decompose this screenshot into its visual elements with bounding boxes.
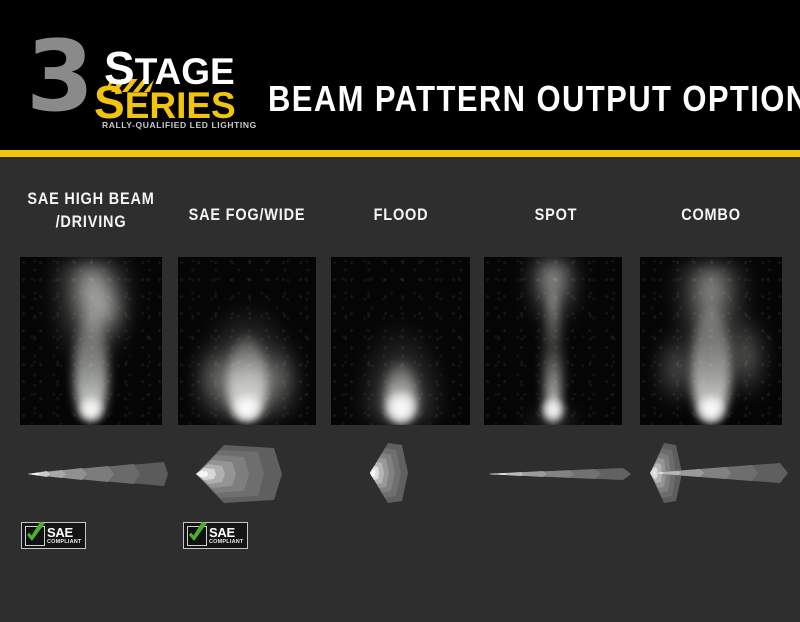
sae-compliant-badge-1: SAE COMPLIANT: [21, 522, 86, 549]
beam-diagram-spot: [475, 447, 635, 501]
column-label-line2: /DRIVING: [16, 211, 166, 234]
column-label-line1: SAE FOG/WIDE: [172, 204, 322, 227]
column-combo: COMBO: [636, 157, 786, 622]
column-label-combo: COMBO: [636, 204, 786, 227]
sae-badge-main-text: SAE: [47, 526, 82, 539]
beam-diagram-flood: [356, 440, 448, 506]
column-label-spot: SPOT: [481, 204, 631, 227]
column-label-sae-high-beam-driving: SAE HIGH BEAM /DRIVING: [16, 188, 166, 234]
column-flood: FLOOD: [326, 157, 476, 622]
green-checkmark-icon: [25, 526, 45, 546]
beam-photo-sae-high-beam-driving: [20, 257, 162, 425]
column-label-line1: COMBO: [636, 204, 786, 227]
column-label-sae-fog-wide: SAE FOG/WIDE: [172, 204, 322, 227]
page-title: BEAM PATTERN OUTPUT OPTIONS: [268, 78, 800, 120]
beam-photo-combo: [640, 257, 782, 425]
beam-diagram-sae-high-beam-driving: [16, 444, 168, 504]
beam-columns-container: SAE HIGH BEAM /DRIVING: [0, 157, 800, 622]
sae-badge-main-text: SAE: [209, 526, 244, 539]
yellow-divider-rule: [0, 150, 800, 157]
sae-badge-sub-text: COMPLIANT: [209, 540, 244, 546]
sae-compliant-badge-2: SAE COMPLIANT: [183, 522, 248, 549]
column-label-flood: FLOOD: [326, 204, 476, 227]
logo-word-series: SERIES: [94, 84, 236, 124]
sae-badge-sub-text: COMPLIANT: [47, 540, 82, 546]
header-bar: 3 STAGE SERIES RALLY-QUALIFIED LED LIGHT…: [0, 0, 800, 150]
column-label-line1: SAE HIGH BEAM: [16, 188, 166, 211]
column-sae-high-beam-driving: SAE HIGH BEAM /DRIVING: [16, 157, 166, 622]
column-sae-fog-wide: SAE FOG/WIDE: [172, 157, 322, 622]
beam-pattern-output-options-page: 3 STAGE SERIES RALLY-QUALIFIED LED LIGHT…: [0, 0, 800, 622]
beam-photo-flood: [331, 257, 470, 425]
beam-photo-spot: [484, 257, 622, 425]
beam-diagram-sae-fog-wide: [178, 442, 318, 506]
column-label-line1: FLOOD: [326, 204, 476, 227]
brand-logo: 3 STAGE SERIES RALLY-QUALIFIED LED LIGHT…: [26, 32, 241, 132]
logo-tagline: RALLY-QUALIFIED LED LIGHTING: [102, 120, 257, 130]
column-label-line1: SPOT: [481, 204, 631, 227]
column-spot: SPOT: [481, 157, 631, 622]
logo-numeral-3: 3: [26, 28, 90, 126]
beam-photo-sae-fog-wide: [178, 257, 316, 425]
green-checkmark-icon: [187, 526, 207, 546]
beam-diagram-combo: [630, 440, 792, 506]
